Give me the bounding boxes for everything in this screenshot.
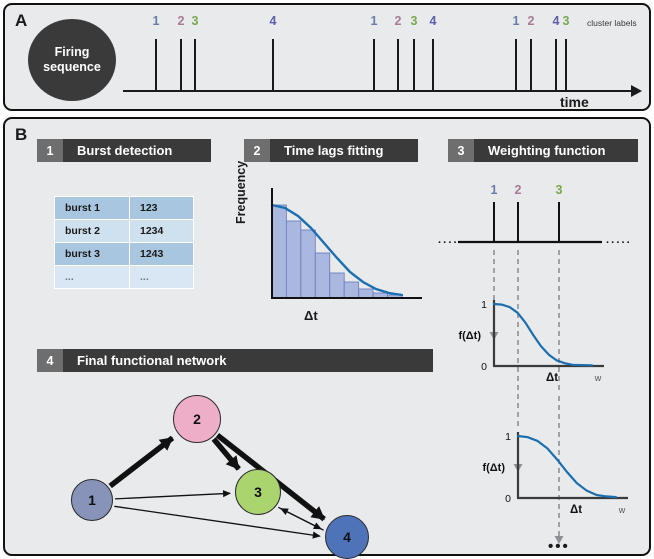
spike-tick [272,39,274,90]
section-number-1: 1 [37,139,63,162]
cluster-label-1: 1 [371,14,378,28]
network-node-1[interactable]: 1 [71,479,113,521]
wf-xlabel: Δt [570,504,582,516]
section-title-1: Burst detection [63,139,211,162]
firing-sequence-label-line2: sequence [43,60,101,75]
histogram-svg [246,180,426,310]
time-axis-arrow-icon [631,85,642,97]
burst-sequence-cell: 1234 [130,220,194,243]
weighting-cluster-label-2: 2 [515,183,522,197]
weighting-function-block: 123··········10f(Δt)Δtw10f(Δt)Δtw [432,170,654,556]
weighting-cluster-label-1: 1 [491,183,498,197]
spike-tick [515,39,517,90]
histogram-bar [344,282,358,298]
spike-tick [555,39,557,90]
cluster-label-3: 3 [411,14,418,28]
section-header-time-lags-fitting: 2 Time lags fitting [244,139,418,162]
network-node-2[interactable]: 2 [173,395,221,443]
wf-xtick-w: w [594,373,602,383]
wf-ytick-0: 0 [505,493,511,505]
cluster-label-4: 4 [553,14,560,28]
section-title-2: Time lags fitting [270,139,418,162]
spike-tick [565,39,567,90]
panel-b-letter: B [15,125,27,145]
spike-tick [373,39,375,90]
section-title-4: Final functional network [63,349,433,372]
weighting-cluster-label-3: 3 [556,183,563,197]
cluster-label-3: 3 [563,14,570,28]
cluster-label-2: 2 [528,14,535,28]
burst-sequence-cell: 123 [130,197,194,220]
wf-ylabel: f(Δt) [482,462,505,474]
wf-ytick-1: 1 [481,299,487,311]
wf-xtick-w: w [618,505,626,515]
spike-tick [397,39,399,90]
cluster-label-3: 3 [192,14,199,28]
histogram-xlabel: Δt [304,308,318,323]
histogram-bar [286,221,300,298]
time-lags-histogram: Frequency Δt [246,180,426,330]
burst-detection-table: burst 1123burst 21234burst 31243...... [54,196,194,289]
table-row: burst 21234 [55,220,194,243]
section-title-3: Weighting function [474,139,638,162]
histogram-bar [330,273,344,298]
spike-tick [413,39,415,90]
network-edges-svg [34,382,434,557]
network-edge-arrowhead-icon [312,532,320,539]
time-axis-label: time [560,94,589,110]
spike-tick [530,39,532,90]
section-header-final-network: 4 Final functional network [37,349,433,372]
burst-name-cell: burst 1 [55,197,130,220]
network-edge [114,506,319,536]
spike-tick [194,39,196,90]
cluster-label-4: 4 [270,14,277,28]
histogram-bar [315,253,329,298]
burst-sequence-cell: 1243 [130,243,194,266]
table-row: burst 31243 [55,243,194,266]
weighting-lead-dots: ····· [438,237,464,249]
spike-tick [155,39,157,90]
cluster-label-2: 2 [178,14,185,28]
section-number-3: 3 [448,139,474,162]
firing-sequence-bubble: Firing sequence [28,19,116,101]
histogram-bar [301,230,315,298]
wf-curve [518,436,616,497]
network-edge [115,493,230,499]
pipeline-continues-ellipsis: ••• [548,538,570,555]
burst-name-cell: ... [55,266,130,289]
section-header-burst-detection: 1 Burst detection [37,139,211,162]
histogram-bar [272,205,286,298]
wf-ylabel: f(Δt) [458,330,481,342]
network-node-3[interactable]: 3 [235,469,281,515]
wf-xlabel: Δt [546,372,558,384]
cluster-label-2: 2 [395,14,402,28]
wf-curve [494,304,592,365]
spike-tick [180,39,182,90]
table-row: burst 1123 [55,197,194,220]
cluster-label-1: 1 [153,14,160,28]
burst-sequence-cell: ... [130,266,194,289]
network-node-4[interactable]: 4 [325,515,369,559]
section-header-weighting-function: 3 Weighting function [448,139,638,162]
panel-a-letter: A [15,11,27,31]
cluster-labels-note: cluster labels [587,18,637,28]
weighting-trail-dots: ····· [606,237,632,249]
panel-a-firing-sequence: A Firing sequence time cluster labels 12… [3,3,651,111]
functional-network: 1234 [34,382,434,557]
network-edge-arrowhead-icon [223,490,231,497]
wf-ytick-1: 1 [505,431,511,443]
firing-sequence-label-line1: Firing [55,45,90,60]
weighting-function-svg: 123··········10f(Δt)Δtw10f(Δt)Δtw [432,170,654,556]
section-number-2: 2 [244,139,270,162]
section-number-4: 4 [37,349,63,372]
spike-tick [432,39,434,90]
cluster-label-4: 4 [430,14,437,28]
burst-name-cell: burst 2 [55,220,130,243]
table-row: ...... [55,266,194,289]
cluster-label-1: 1 [513,14,520,28]
time-axis-line [123,90,633,92]
wf-ytick-0: 0 [481,361,487,373]
histogram-bar [359,289,373,298]
burst-name-cell: burst 3 [55,243,130,266]
